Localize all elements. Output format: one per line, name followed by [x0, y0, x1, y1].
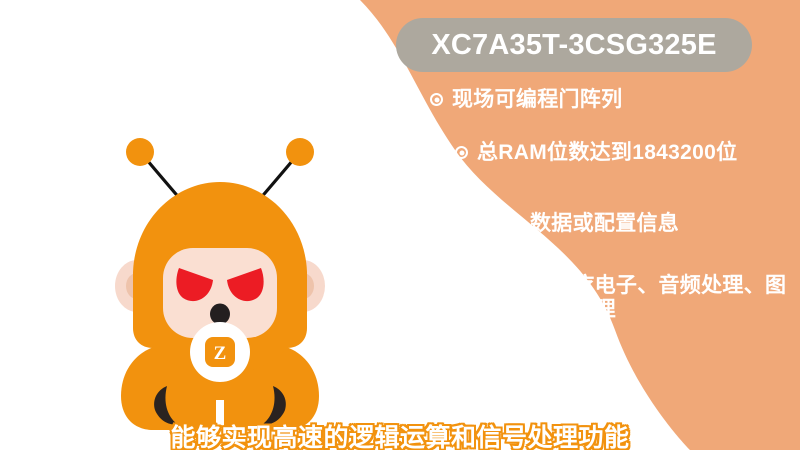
antenna-right-stem: [259, 160, 293, 200]
feature-bullet-2: 总RAM位数达到1843200位: [455, 141, 785, 165]
page-title: XC7A35T-3CSG325E: [431, 29, 716, 62]
feature-bullet-1-label: 现场可编程门阵列: [452, 88, 622, 112]
bullet-dot-icon: [455, 146, 468, 159]
feature-bullet-3-label: 数据或配置信息: [530, 212, 679, 236]
feature-bullet-1: 现场可编程门阵列: [430, 88, 622, 112]
antenna-right-ball: [286, 138, 314, 166]
feature-bullet-3: 数据或配置信息: [508, 212, 679, 236]
feature-bullet-4: 医疗电子、音频处理、图像处理: [530, 274, 795, 321]
antenna-left-stem: [147, 160, 181, 200]
product-title-pill: XC7A35T-3CSG325E: [396, 18, 752, 72]
chest-badge-letter: Z: [214, 343, 227, 364]
antenna-left-ball: [126, 138, 154, 166]
slide-canvas: Z XC7A35T-3CSG325E 现场可编程门阵列 总RAM位数达到1843…: [0, 0, 800, 450]
bullet-dot-icon: [430, 93, 443, 106]
nose: [210, 304, 230, 325]
feature-bullet-2-label: 总RAM位数达到1843200位: [477, 141, 737, 165]
bullet-dot-icon: [530, 291, 543, 304]
mascot-character: Z: [95, 100, 345, 430]
bullet-dot-icon: [508, 217, 521, 230]
caption-subtitle: 能够实现高速的逻辑运算和信号处理功能: [0, 418, 800, 450]
feature-bullet-4-label: 医疗电子、音频处理、图像处理: [552, 274, 795, 321]
